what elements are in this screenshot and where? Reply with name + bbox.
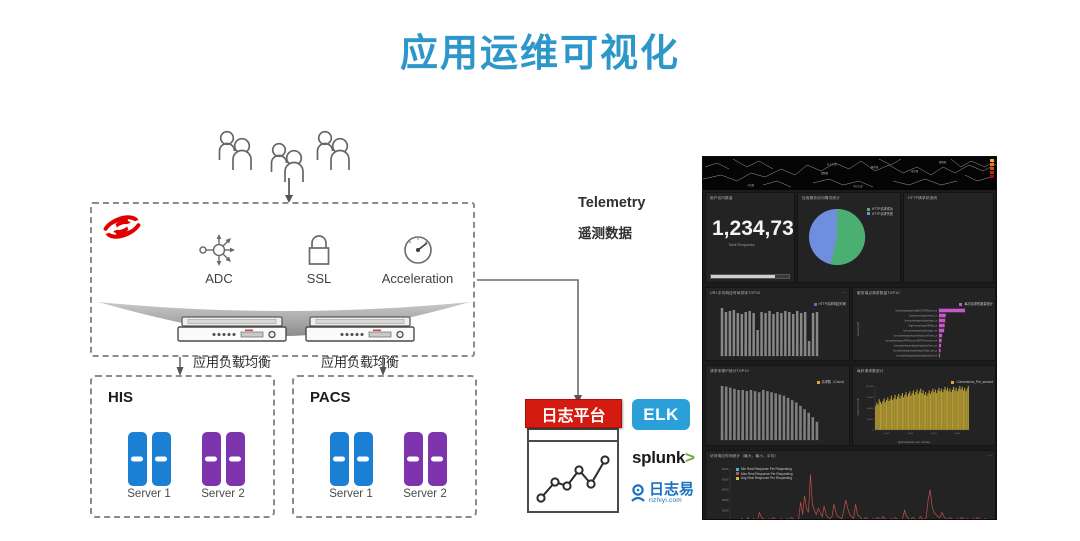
svg-text:10.1.2.21: 10.1.2.21 [762,428,764,438]
svg-text:10.1.2.13: 10.1.2.13 [729,344,731,354]
svg-text:10.1.2.19: 10.1.2.19 [753,344,755,354]
svg-text:10.1.2.35: 10.1.2.35 [816,344,818,354]
group-his-title: HIS [108,389,133,406]
splunk-wordmark: splunk [632,448,685,467]
server-label: Server 1 [316,488,386,500]
server-node: Server 2 [188,432,258,500]
panel-pie-service-access[interactable]: 应用服务访问情况统计 HTTP请求成功 HTTP请求失败 [797,192,901,283]
rizhiyi-name-cn: 日志易 [649,482,694,497]
panel-menu-icon[interactable]: ··· [841,290,846,296]
svg-text:60000: 60000 [722,468,729,471]
svg-text:14:00: 14:00 [884,433,890,435]
vendor-splunk-logo[interactable]: splunk> [632,448,695,468]
svg-text:10.1.2.23: 10.1.2.23 [769,344,771,354]
chart-legend: 请求数（Count） [817,380,846,385]
svg-text:14:30: 14:30 [955,433,961,435]
panel-requests-per-second[interactable]: 每秒请求数统计 030,00060,00090,000120,00014:001… [852,365,996,446]
svg-text:14:20: 14:20 [931,433,937,435]
svg-text:60,000: 60,000 [867,408,874,410]
legend-label: 请求数（Count） [822,380,846,385]
svg-text:/tomcat/webapps/log/webapp_js: /tomcat/webapps/log/webapp_js [904,320,938,323]
svg-text:10.1.2.20: 10.1.2.20 [758,428,760,438]
server-blades-icon [188,432,258,486]
svg-text:10.1.2.27: 10.1.2.27 [784,344,786,354]
panel-url-response-top10[interactable]: URL平均响应时间排序TOP10 ··· 10.1.2.1110.1.2.121… [705,287,850,361]
panel-title: 访问响应时间统计（最大、最小、平均） [706,451,995,459]
panel-title: 用户访问数量 [706,193,794,201]
server-node: Server 1 [114,432,184,500]
svg-text:10.1.2.34: 10.1.2.34 [812,344,814,354]
svg-text:/log/browser/logs/APIMgr_js: /log/browser/logs/APIMgr_js [908,325,937,328]
group-pacs-title: PACS [310,389,351,406]
rizhiyi-domain: rizhiyi.com [649,498,694,505]
svg-text:10.1.2.17: 10.1.2.17 [745,344,747,354]
svg-text:14:10: 14:10 [908,433,914,435]
svg-text:10.1.2.18: 10.1.2.18 [749,344,751,354]
svg-text:30000: 30000 [722,499,729,502]
dashboard-row-2: URL平均响应时间排序TOP10 ··· 10.1.2.1110.1.2.121… [703,285,996,363]
svg-text:建国路: 建国路 [939,160,947,164]
svg-text:10.1.2.29: 10.1.2.29 [795,428,797,438]
legend-label: Connections_Per_second [956,380,993,385]
card-titlebar [529,430,617,442]
panel-title: 每秒请求数统计 [853,366,995,374]
svg-text:0: 0 [872,430,874,432]
server-blades-icon [316,432,386,486]
server-node: Server 2 [390,432,460,500]
svg-text:10.1.2.14: 10.1.2.14 [733,428,735,438]
group-his: HIS Server 1 Server 2 [90,375,275,518]
pie-legend: HTTP请求成功 HTTP请求失败 [867,207,893,216]
svg-text:10.1.2.24: 10.1.2.24 [772,344,774,354]
monitoring-dashboard[interactable]: 人民路 长宁大道 朝阳路 解放路 南京路 建国路 中山大道 用户访问数量 1,2… [702,156,997,520]
svg-text:10.1.2.27: 10.1.2.27 [787,428,789,438]
server-blades-icon [390,432,460,486]
geo-map-panel[interactable]: 人民路 长宁大道 朝阳路 解放路 南京路 建国路 中山大道 [703,157,996,190]
svg-text:朝阳路: 朝阳路 [821,171,829,175]
svg-text:10.1.2.14: 10.1.2.14 [733,344,735,354]
svg-text:10.1.2.32: 10.1.2.32 [808,428,810,438]
svg-text:10.1.2.28: 10.1.2.28 [788,344,790,354]
legend-label: Avg Real Response Per Requesting [741,476,792,481]
legend-label: HTTP请求响应时间 [819,302,846,307]
svg-text:10.1.2.13: 10.1.2.13 [729,428,731,438]
svg-text:10.1.2.31: 10.1.2.31 [804,428,806,438]
svg-text:10.1.2.12: 10.1.2.12 [725,428,727,438]
svg-text:Count of records: Count of records [857,398,860,416]
server-blades-icon [114,432,184,486]
rizhiyi-mark-icon [630,484,646,502]
map-legend [990,159,994,179]
svg-text:40000: 40000 [722,489,729,492]
x-axis-label: @timestamp per minute [898,440,930,444]
svg-text:10.1.2.30: 10.1.2.30 [799,428,801,438]
server-label: Server 2 [188,488,258,500]
svg-text:30,000: 30,000 [867,419,874,421]
splunk-chevron-icon: > [685,448,695,467]
panel-source-ip-top10[interactable]: 请求来源IP统计TOP10 10.1.2.1110.1.2.1210.1.2.1… [705,365,850,446]
svg-text:10.1.2.19: 10.1.2.19 [754,428,756,438]
svg-text:10.1.2.28: 10.1.2.28 [791,428,793,438]
kpi-value: 1,234,730 [706,217,794,241]
panel-menu-icon[interactable]: ··· [987,453,992,459]
svg-text:10.1.2.30: 10.1.2.30 [796,344,798,354]
svg-text:10.1.2.25: 10.1.2.25 [779,428,781,438]
dashboard-row-4: 访问响应时间统计（最大、最小、平均） ··· 60000500004000030… [703,448,996,520]
telemetry-label-cn: 遥测数据 [578,222,632,242]
svg-text:10.1.2.15: 10.1.2.15 [738,428,740,438]
server-node: Server 1 [316,432,386,500]
server-label: Server 2 [390,488,460,500]
svg-text:10.1.2.11: 10.1.2.11 [721,428,723,438]
panel-title: URL平均响应时间排序TOP10 [706,288,849,296]
vendor-elk-badge[interactable]: ELK [632,399,690,430]
horizontal-scrollbar[interactable] [710,274,790,279]
panel-title: 请求来源IP统计TOP10 [706,366,849,374]
svg-text:解放路: 解放路 [871,165,879,169]
svg-text:10.1.2.18: 10.1.2.18 [750,428,752,438]
chart-legend: HTTP请求响应时间 [814,302,846,307]
svg-text:10.1.2.11: 10.1.2.11 [721,344,723,354]
svg-text:10.1.2.16: 10.1.2.16 [741,344,743,354]
vendor-rizhiyi-logo[interactable]: 日志易 rizhiyi.com [630,482,694,505]
svg-text:10.1.2.15: 10.1.2.15 [737,344,739,354]
svg-text:10.1.2.17: 10.1.2.17 [746,428,748,438]
group-pacs: PACS Server 1 Server 2 [292,375,477,518]
svg-text:10.1.2.34: 10.1.2.34 [816,428,818,438]
svg-text:10.1.2.16: 10.1.2.16 [742,428,744,438]
svg-text:10.1.2.33: 10.1.2.33 [812,428,814,438]
chart-legend: Connections_Per_second [951,380,993,385]
slide-canvas: 应用运维可视化 [0,0,1080,541]
svg-text:长宁大道: 长宁大道 [827,162,837,166]
svg-text:/tomcat/webapps/log/webapp/Lis: /tomcat/webapps/log/webapp/List/Tasks_js [894,335,938,338]
svg-text:50000: 50000 [722,478,729,481]
svg-text:10.1.2.26: 10.1.2.26 [780,344,782,354]
svg-text:10.1.2.20: 10.1.2.20 [757,344,759,354]
dashboard-row-1: 用户访问数量 1,234,730 Total Requests 应用服务访问情况… [703,190,996,285]
svg-text:90,000: 90,000 [867,397,874,399]
svg-text:10.1.2.22: 10.1.2.22 [766,428,768,438]
svg-text:/tomcat/webapps/log/webapp/Tas: /tomcat/webapps/log/webapp/Tasks_site_js [893,350,938,353]
chart-legend: Min Real Response Per Requesting Max Rea… [736,467,793,481]
svg-text:10.1.2.12: 10.1.2.12 [725,344,727,354]
svg-text:10.1.2.25: 10.1.2.25 [776,344,778,354]
page-title: 应用运维可视化 [0,22,1080,77]
svg-text:/tomcat/webapps/log/BUSTOP/Bro: /tomcat/webapps/log/BUSTOP/Browse.js [895,310,938,313]
svg-text:120,000: 120,000 [866,386,875,388]
line-chart-icon [529,442,617,510]
svg-text:10.1.2.24: 10.1.2.24 [775,428,777,438]
panel-title: HTTP请求状态码 [904,193,993,201]
svg-text:人民路: 人民路 [747,183,755,187]
bar-chart-vertical: 10.1.2.1110.1.2.1210.1.2.1310.1.2.1410.1… [706,374,849,446]
legend-label: 每次请求的数量统计 [964,302,993,307]
panel-response-time-line[interactable]: 访问响应时间统计（最大、最小、平均） ··· 60000500004000030… [705,450,996,520]
svg-text:/tomcat/webapps/log/webapp.css: /tomcat/webapps/log/webapp.css [903,330,938,333]
svg-text:10.1.2.33: 10.1.2.33 [808,344,810,354]
chart-legend: 每次请求的数量统计 [959,302,993,307]
panel-http-status[interactable]: HTTP请求状态码 [903,192,994,283]
panel-endpoint-requests-top10[interactable]: 服务端点请求数量TOP10 /tomcat/webapps/log/BUSTOP… [852,287,996,361]
panel-title: 应用服务访问情况统计 [798,193,900,201]
svg-text:/tomcat/webapps/log/webapp/ind: /tomcat/webapps/log/webapp/index.html [896,355,937,358]
svg-text:南京路: 南京路 [911,169,919,173]
svg-text:/tomcat/webapps/APIResource/BO: /tomcat/webapps/APIResource/BOP/referenc… [886,340,938,343]
panel-title: 服务端点请求数量TOP10 [853,288,995,296]
svg-text:/tomcat/webapps/log/webapp/css: /tomcat/webapps/log/webapp/css/form.css [894,345,938,348]
svg-text:10.1.2.23: 10.1.2.23 [771,428,773,438]
svg-text:10.1.2.32: 10.1.2.32 [804,344,806,354]
svg-text:10.1.2.31: 10.1.2.31 [800,344,802,354]
log-platform-badge[interactable]: 日志平台 [525,399,622,428]
svg-text:Request path: Request path [857,321,860,336]
map-lines: 人民路 长宁大道 朝阳路 解放路 南京路 建国路 中山大道 [703,157,996,190]
panel-kpi-total-requests[interactable]: 用户访问数量 1,234,730 Total Requests [705,192,795,283]
dashboard-row-3: 请求来源IP统计TOP10 10.1.2.1110.1.2.1210.1.2.1… [703,363,996,448]
svg-text:10.1.2.29: 10.1.2.29 [792,344,794,354]
svg-text:10.1.2.22: 10.1.2.22 [765,344,767,354]
svg-text:10.1.2.21: 10.1.2.21 [761,344,763,354]
svg-text:中山大道: 中山大道 [853,184,863,188]
svg-text:10.1.2.26: 10.1.2.26 [783,428,785,438]
telemetry-label-en: Telemetry [578,195,645,211]
log-platform-chart-card [527,428,619,513]
server-label: Server 1 [114,488,184,500]
kpi-sublabel: Total Requests [706,242,794,247]
svg-text:/login/server/login/server_js: /login/server/login/server_js [909,315,938,318]
svg-text:20000: 20000 [722,509,729,512]
pie-chart [806,206,868,268]
legend-label: HTTP请求失败 [872,212,893,217]
